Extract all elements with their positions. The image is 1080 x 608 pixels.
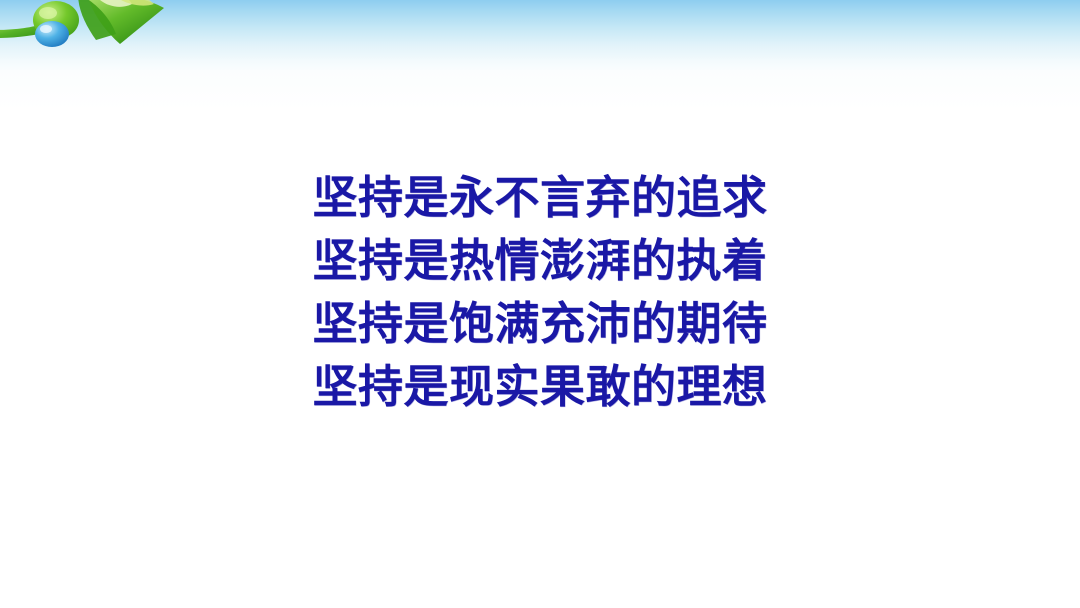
verse-line-1: 坚持是永不言弃的追求 bbox=[0, 166, 1080, 229]
sky-gradient-haze bbox=[0, 70, 1080, 110]
verse-line-3: 坚持是饱满充沛的期待 bbox=[0, 292, 1080, 355]
presentation-slide: 坚持是永不言弃的追求 坚持是热情澎湃的执着 坚持是饱满充沛的期待 坚持是现实果敢… bbox=[0, 0, 1080, 608]
bud-highlight bbox=[39, 7, 57, 19]
verse-text-block: 坚持是永不言弃的追求 坚持是热情澎湃的执着 坚持是饱满充沛的期待 坚持是现实果敢… bbox=[0, 166, 1080, 418]
verse-line-4: 坚持是现实果敢的理想 bbox=[0, 355, 1080, 418]
leaf-droplet-icon bbox=[0, 0, 165, 48]
water-droplet-shape bbox=[35, 21, 69, 47]
verse-line-2: 坚持是热情澎湃的执着 bbox=[0, 229, 1080, 292]
plant-decoration bbox=[0, 0, 165, 48]
droplet-highlight bbox=[40, 25, 52, 33]
